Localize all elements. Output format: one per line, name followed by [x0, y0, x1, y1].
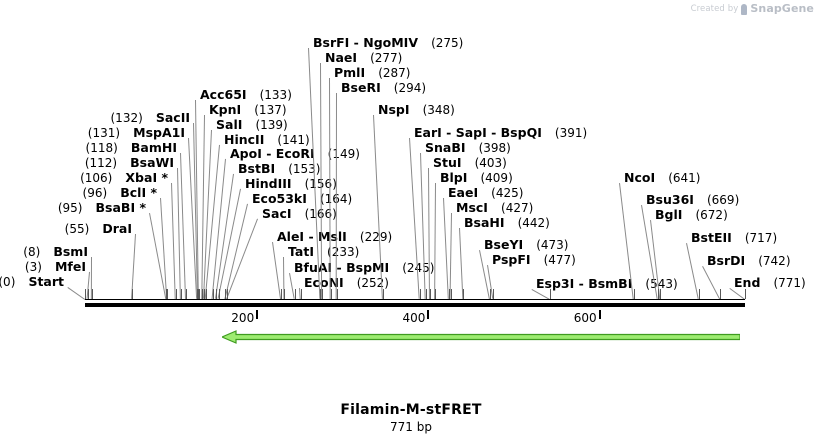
enzyme-label-tati: TatI (233)	[288, 245, 359, 259]
enzyme-label-snabi: SnaBI (398)	[425, 141, 511, 155]
site-tick-mark	[199, 289, 200, 299]
enzyme-label-bsmi: (8) BsmI	[23, 245, 88, 259]
ruler-label-400: 400	[387, 311, 425, 325]
enzyme-label-sacii: (132) SacII	[111, 111, 191, 125]
site-tick-mark	[284, 289, 285, 299]
site-tick-mark	[132, 289, 133, 299]
map-title-block: Filamin-M-stFRET 771 bp	[0, 402, 822, 434]
site-tick-mark	[213, 289, 214, 299]
enzyme-label-bsu36i: Bsu36I (669)	[646, 193, 739, 207]
backbone-top-line	[85, 299, 745, 300]
site-tick-mark	[699, 289, 700, 299]
site-tick-mark	[219, 289, 220, 299]
enzyme-label-apoi-ecori: ApoI - EcoRI (149)	[230, 147, 360, 161]
ruler-label-200: 200	[216, 311, 254, 325]
watermark-brand-text: SnapGene	[750, 2, 814, 15]
leader-line	[450, 213, 452, 299]
backbone-main-bar	[85, 303, 745, 307]
enzyme-label-pspfi: PspFI (477)	[492, 253, 576, 267]
leader-line	[434, 183, 436, 299]
ruler-tick-200	[256, 310, 258, 319]
enzyme-label-bsrfi-ngomiv: BsrFI - NgoMIV (275)	[313, 36, 463, 50]
site-tick-mark	[206, 289, 207, 299]
enzyme-label-econi: EcoNI (252)	[304, 276, 389, 290]
enzyme-label-drai: (55) DraI	[65, 222, 132, 236]
enzyme-label-saci: SacI (166)	[262, 207, 337, 221]
site-tick-mark	[176, 289, 177, 299]
enzyme-label-bsabi: (95) BsaBI *	[58, 201, 146, 215]
ruler-tick-400	[427, 310, 429, 319]
site-tick-mark	[281, 289, 282, 299]
site-tick-mark	[493, 289, 494, 299]
snapgene-logo-icon	[741, 4, 747, 15]
site-tick-mark	[430, 289, 431, 299]
site-tick-mark	[490, 289, 491, 299]
enzyme-label-hincii: HincII (141)	[224, 133, 310, 147]
site-tick-mark	[463, 289, 464, 299]
site-tick-mark	[227, 289, 228, 299]
site-tick-mark	[92, 289, 93, 299]
enzyme-label-stui: StuI (403)	[433, 156, 507, 170]
map-title: Filamin-M-stFRET	[0, 402, 822, 418]
map-length-label: 771 bp	[0, 420, 822, 434]
site-tick-mark	[451, 289, 452, 299]
site-tick-mark	[660, 289, 661, 299]
snapgene-watermark: Created by SnapGene	[691, 2, 814, 15]
site-tick-mark	[181, 289, 182, 299]
site-tick-mark	[426, 289, 427, 299]
leader-line	[686, 243, 699, 299]
leader-line	[272, 242, 281, 299]
snapgene-linear-map: Created by SnapGene (0) Start(3) MfeI(8)…	[0, 0, 822, 445]
site-tick-mark	[383, 289, 384, 299]
enzyme-label-hindiii: HindIII (156)	[245, 177, 337, 191]
leader-line	[702, 266, 720, 299]
enzyme-label-msci: MscI (427)	[456, 201, 533, 215]
enzyme-label-bstbi: BstBI (153)	[238, 162, 320, 176]
enzyme-label-bsteii: BstEII (717)	[691, 231, 777, 245]
site-tick-mark	[295, 289, 296, 299]
enzyme-label-nspi: NspI (348)	[378, 103, 455, 117]
enzyme-label-mfei: (3) MfeI	[25, 260, 86, 274]
site-tick-mark	[745, 289, 746, 299]
enzyme-label-bsrdi: BsrDI (742)	[707, 254, 791, 268]
enzyme-label-ncoi: NcoI (641)	[624, 171, 700, 185]
site-tick-mark	[337, 289, 338, 299]
site-tick-mark	[435, 289, 436, 299]
enzyme-label-bsahi: BsaHI (442)	[464, 216, 550, 230]
site-tick-mark	[634, 289, 635, 299]
site-tick-mark	[322, 289, 323, 299]
watermark-created-by-text: Created by	[691, 4, 739, 14]
enzyme-label-kpni: KpnI (137)	[209, 103, 287, 117]
ruler-tick-600	[599, 310, 601, 319]
site-tick-mark	[88, 289, 89, 299]
leader-line	[428, 168, 430, 299]
enzyme-label-bseri: BseRI (294)	[341, 81, 426, 95]
site-tick-mark	[186, 289, 187, 299]
site-tick-mark	[85, 289, 86, 299]
leader-line	[420, 153, 426, 299]
enzyme-label-xbai: (106) XbaI *	[80, 171, 168, 185]
enzyme-label-end: End (771)	[734, 276, 806, 290]
site-tick-mark	[550, 289, 551, 299]
enzyme-label-bseyi: BseYI (473)	[484, 238, 569, 252]
enzyme-label-eari-sapi-bspqi: EarI - SapI - BspQI (391)	[414, 126, 587, 140]
enzyme-label-bgli: BglI (672)	[655, 208, 728, 222]
enzyme-label-sali: SalI (139)	[216, 118, 288, 132]
site-tick-mark	[420, 289, 421, 299]
enzyme-label-acc65i: Acc65I (133)	[200, 88, 292, 102]
leader-line	[171, 183, 176, 299]
enzyme-label-pmli: PmlI (287)	[334, 66, 410, 80]
site-tick-mark	[216, 289, 217, 299]
enzyme-label-eco53ki: Eco53kI (164)	[252, 192, 352, 206]
enzyme-label-bsawi: (112) BsaWI	[85, 156, 174, 170]
ruler-label-600: 600	[559, 311, 597, 325]
leader-line	[180, 153, 186, 299]
enzyme-label-blpi: BlpI (409)	[440, 171, 513, 185]
site-tick-mark	[167, 289, 168, 299]
enzyme-label-bamhi: (118) BamHI	[86, 141, 177, 155]
enzyme-label-bfuai-bspmi: BfuAI - BspMI (245)	[294, 261, 434, 275]
site-tick-mark	[331, 289, 332, 299]
site-tick-mark	[301, 289, 302, 299]
leader-line	[443, 198, 449, 299]
site-tick-mark	[720, 289, 721, 299]
enzyme-label-naei: NaeI (277)	[325, 51, 402, 65]
enzyme-label-bcli: (96) BclI *	[83, 186, 157, 200]
site-tick-mark	[658, 289, 659, 299]
leader-line	[67, 287, 85, 300]
enzyme-label-eaei: EaeI (425)	[448, 186, 523, 200]
enzyme-label-start: (0) Start	[0, 275, 64, 289]
stfret-feature-arrow[interactable]	[222, 330, 740, 344]
enzyme-label-mspa1i: (131) MspA1I	[88, 126, 185, 140]
enzyme-label-alei-msli: AleI - MslI (229)	[277, 230, 392, 244]
